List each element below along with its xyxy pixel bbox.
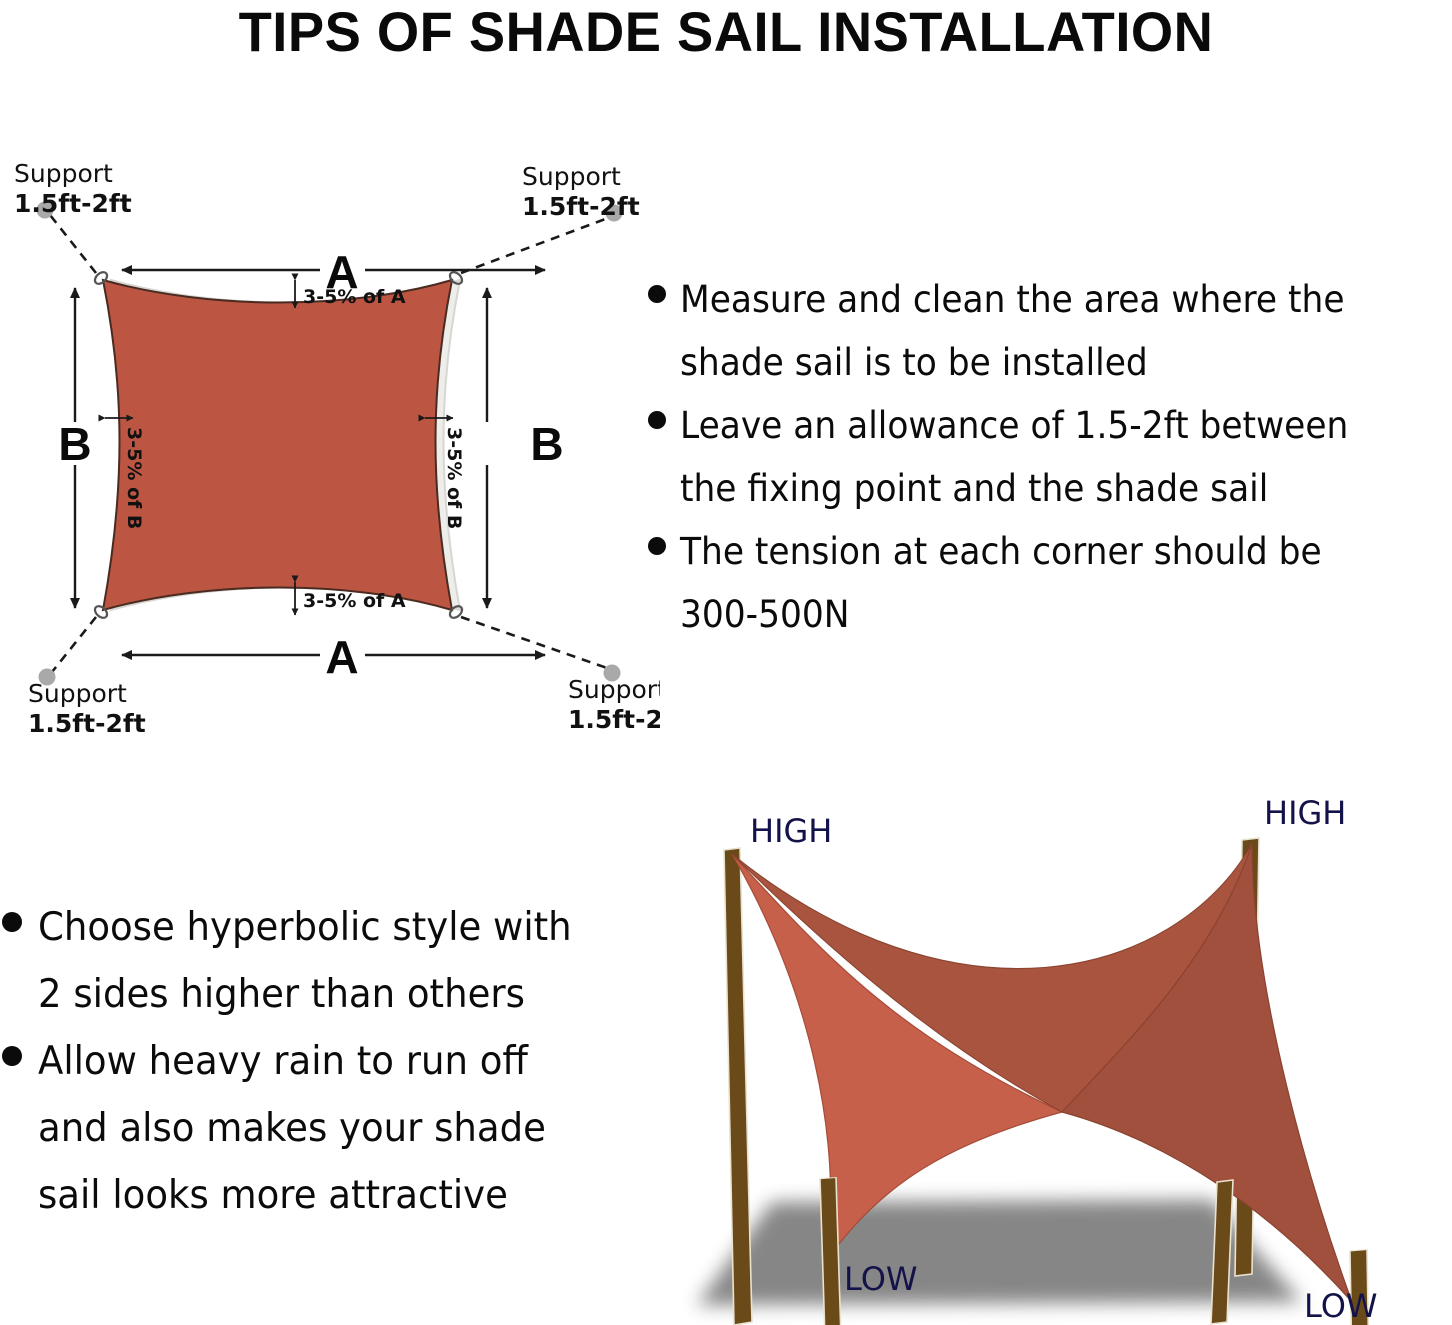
curvature-label-top: 3-5% of A [303, 286, 406, 308]
post-high-left [724, 848, 752, 1325]
bullet-dot-icon [2, 1046, 22, 1066]
tips-list-top: Measure and clean the area where the sha… [648, 268, 1452, 646]
support-label-bottom-left-line1: Support [28, 679, 127, 708]
curvature-label-bottom: 3-5% of A [303, 590, 406, 612]
bullet-dot-icon [648, 537, 666, 555]
tether-line [50, 215, 96, 273]
label-low-right: LOW [1304, 1287, 1378, 1325]
sail-shape [103, 280, 460, 610]
hyperbolic-sail-diagram-svg: HIGH HIGH LOW LOW [652, 782, 1452, 1325]
support-label-top-left-line2: 1.5ft-2ft [14, 189, 132, 218]
label-high-right: HIGH [1264, 794, 1346, 832]
support-label-top-right-line2: 1.5ft-2ft [522, 192, 640, 221]
ground-shadow [697, 1200, 1302, 1305]
list-item: Choose hyperbolic style with 2 sides hig… [2, 894, 622, 1028]
list-item: Leave an allowance of 1.5-2ft between th… [648, 394, 1452, 520]
dimension-label-a-bottom: A [325, 631, 358, 683]
dimension-label-b-left: B [58, 418, 91, 470]
support-label-bottom-right-line2: 1.5ft-2ft [568, 705, 660, 734]
tip-text: The tension at each corner should be 300… [680, 520, 1400, 646]
bullet-dot-icon [648, 285, 666, 303]
rect-sail-diagram-svg: A B B A 3-5% of A 3-5% of A [0, 160, 660, 740]
bullet-dot-icon [2, 912, 22, 932]
post-mid-right [1211, 1180, 1233, 1324]
tip-text: Allow heavy rain to run off and also mak… [38, 1028, 593, 1229]
tip-text: Choose hyperbolic style with 2 sides hig… [38, 894, 593, 1028]
support-label-bottom-left-line2: 1.5ft-2ft [28, 709, 146, 738]
support-label-bottom-right-line1: Support [568, 675, 660, 704]
tether-line [461, 617, 607, 668]
list-item: The tension at each corner should be 300… [648, 520, 1452, 646]
tips-list-bottom: Choose hyperbolic style with 2 sides hig… [2, 894, 622, 1229]
label-high-left: HIGH [750, 812, 832, 850]
tether-line [52, 617, 96, 672]
list-item: Allow heavy rain to run off and also mak… [2, 1028, 622, 1229]
curvature-label-right: 3-5% of B [443, 427, 465, 529]
support-label-top-right-line1: Support [522, 162, 621, 191]
hyperbolic-sail-diagram: HIGH HIGH LOW LOW [652, 782, 1452, 1325]
dimension-label-b-right: B [530, 418, 563, 470]
rect-sail-diagram: A B B A 3-5% of A 3-5% of A [0, 160, 660, 740]
tether-line [461, 218, 608, 273]
page-title: TIPS OF SHADE SAIL INSTALLATION [22, 0, 1430, 66]
tip-text: Leave an allowance of 1.5-2ft between th… [680, 394, 1400, 520]
tip-text: Measure and clean the area where the sha… [680, 268, 1400, 394]
curvature-label-left: 3-5% of B [123, 427, 145, 529]
sail-fabric [103, 280, 452, 610]
list-item: Measure and clean the area where the sha… [648, 268, 1452, 394]
support-label-top-left-line1: Support [14, 160, 113, 188]
bullet-dot-icon [648, 411, 666, 429]
label-low-left: LOW [844, 1260, 918, 1298]
